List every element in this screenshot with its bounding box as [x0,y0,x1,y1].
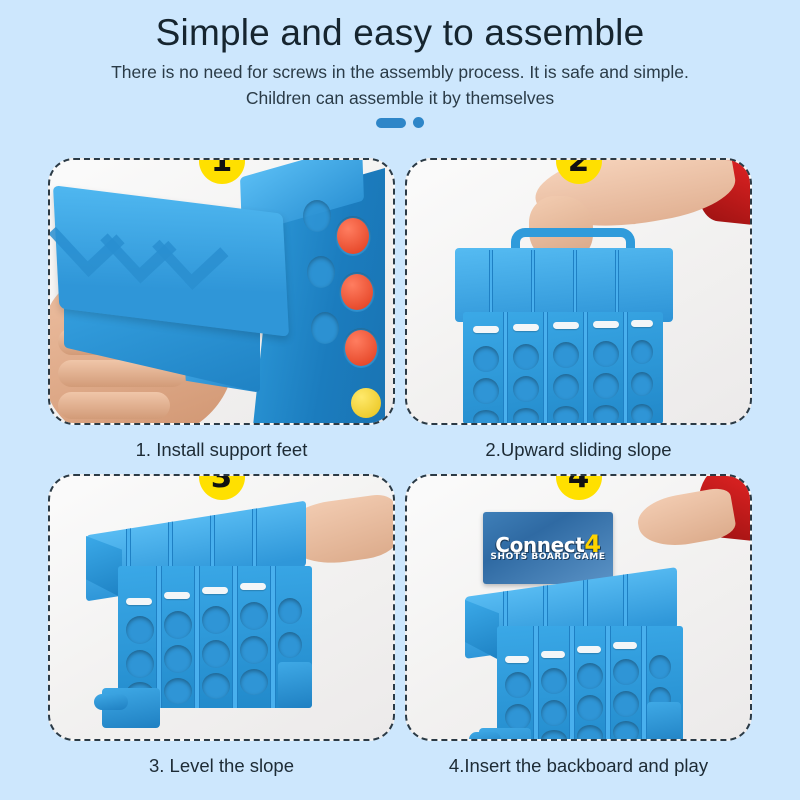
steps-grid: 1 [48,158,752,788]
ball-socket [303,200,331,232]
support-foot-right [278,662,312,708]
red-ball [337,218,369,254]
pagination-dot-active[interactable] [376,118,406,128]
board-hole [613,691,639,717]
red-ball [345,330,377,366]
board-hole [541,668,567,694]
step-caption-4: 4.Insert the backboard and play [405,741,752,790]
ball-socket [307,256,335,288]
header: Simple and easy to assemble There is no … [0,0,800,128]
board-hole [593,341,619,367]
board-hole [240,636,268,664]
board-hole [473,346,499,372]
board-hole [631,340,653,364]
step-caption-1: 1. Install support feet [48,425,395,474]
divider-rib [533,626,539,741]
shooter-slot [593,321,619,328]
divider-rib [489,250,493,320]
step-caption-3: 3. Level the slope [48,741,395,790]
board-hole [505,704,531,730]
chevron-rib [152,213,228,290]
divider-rib [543,312,548,424]
board-hole [649,655,671,679]
board-hole [577,695,603,721]
board-hole [541,700,567,726]
board-hole [240,602,268,630]
board-hole [278,632,302,658]
divider-rib [623,312,628,424]
board-hole [541,730,567,741]
board-hole [278,598,302,624]
divider-rib [573,250,577,320]
board-hole [513,408,539,425]
ball-socket [311,312,339,344]
divider-rib [156,566,162,708]
pagination-dots[interactable] [0,117,800,128]
board-hole [553,406,579,425]
shooter-slot [505,656,529,663]
board-hole [631,372,653,396]
divider-rib [270,566,276,708]
foot-grip [469,732,501,741]
shooter-slot [631,320,653,327]
board-hole [613,659,639,685]
divider-rib [232,566,238,708]
photo-art-slope-in-hand [50,160,393,423]
divider-rib [531,250,535,320]
step-cell-2: 2 [405,158,752,425]
board-hole [473,410,499,425]
board-hole [202,606,230,634]
step-cell-3: 3 [48,474,395,741]
board-hole [577,725,603,741]
shooter-slot [240,583,266,590]
board-hole [513,376,539,402]
shooter-slot [164,592,190,599]
board-hole [473,378,499,404]
hole-grid-body [463,312,663,424]
support-foot-right [647,702,681,741]
board-hole [505,672,531,698]
shooter-slot [577,646,601,653]
divider-rib [503,312,508,424]
board-hole [164,611,192,639]
board-hole [126,650,154,678]
board-hole [164,645,192,673]
shooter-slot [613,642,637,649]
step-photo-2[interactable]: 2 [405,158,752,425]
shooter-slot [513,324,539,331]
folded-ramp-top [455,248,673,322]
board-hole [631,404,653,424]
step-cell-4: Connect4 SHOTS BOARD GAME [405,474,752,741]
printed-backboard: Connect4 SHOTS BOARD GAME [483,512,613,584]
page-title: Simple and easy to assemble [0,0,800,53]
board-hole [553,342,579,368]
photo-art-insert-backboard: Connect4 SHOTS BOARD GAME [407,476,750,739]
board-hole [553,374,579,400]
shooter-slot [473,326,499,333]
infographic-page: Simple and easy to assemble There is no … [0,0,800,800]
shooter-slot [541,651,565,658]
board-hole [202,640,230,668]
divider-rib [583,312,588,424]
board-hole [164,678,192,704]
board-hole [126,616,154,644]
backboard-tagline: SHOTS BOARD GAME [483,552,613,562]
step-cell-1: 1 [48,158,395,425]
board-hole [240,669,268,695]
photo-art-lifting-board [407,160,750,423]
step-caption-2: 2.Upward sliding slope [405,425,752,474]
board-hole [593,405,619,425]
foot-grip [94,694,128,710]
shooter-slot [126,598,152,605]
yellow-ball [351,388,381,418]
step-photo-4[interactable]: Connect4 SHOTS BOARD GAME [405,474,752,741]
board-hole [513,344,539,370]
finger [58,392,170,419]
divider-rib [615,250,619,320]
hand [634,486,737,552]
shooter-slot [553,322,579,329]
shooter-slot [202,587,228,594]
step-photo-3[interactable]: 3 [48,474,395,741]
board-hole [613,721,639,741]
divider-rib [194,566,200,708]
board-hole [593,373,619,399]
board-hole [202,673,230,699]
divider-rib [569,626,575,741]
board-hole [577,663,603,689]
step-photo-1[interactable]: 1 [48,158,395,425]
page-subtitle: There is no need for screws in the assem… [90,53,710,111]
red-ball [341,274,373,310]
divider-rib [605,626,611,741]
pagination-dot-inactive[interactable] [413,117,424,128]
photo-art-level-slope [50,476,393,739]
